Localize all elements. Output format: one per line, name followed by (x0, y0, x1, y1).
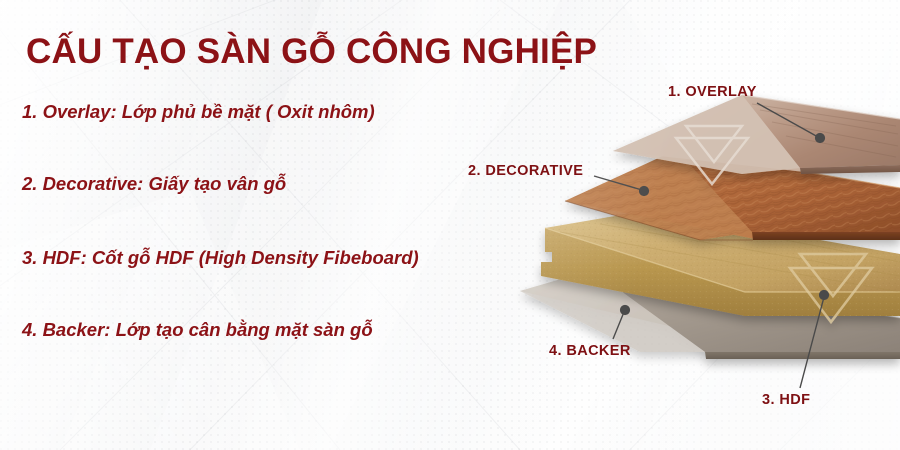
callout-label-hdf: 3. HDF (762, 392, 810, 408)
page-title: CẤU TẠO SÀN GỖ CÔNG NGHIỆP (26, 32, 597, 72)
bullet-decorative: 2. Decorative: Giấy tạo vân gỗ (22, 173, 286, 195)
bullet-backer: 4. Backer: Lớp tạo cân bằng mặt sàn gỗ (22, 319, 373, 341)
bullet-overlay: 1. Overlay: Lớp phủ bề mặt ( Oxit nhôm) (22, 101, 375, 123)
callout-label-backer: 4. BACKER (549, 343, 631, 359)
bullet-hdf: 3. HDF: Cốt gỗ HDF (High Density Fibeboa… (22, 247, 419, 269)
poster-canvas: CẤU TẠO SÀN GỖ CÔNG NGHIỆP 1. Overlay: L… (0, 0, 900, 450)
callout-label-overlay: 1. OVERLAY (668, 84, 757, 100)
callout-label-decorative: 2. DECORATIVE (468, 163, 583, 179)
